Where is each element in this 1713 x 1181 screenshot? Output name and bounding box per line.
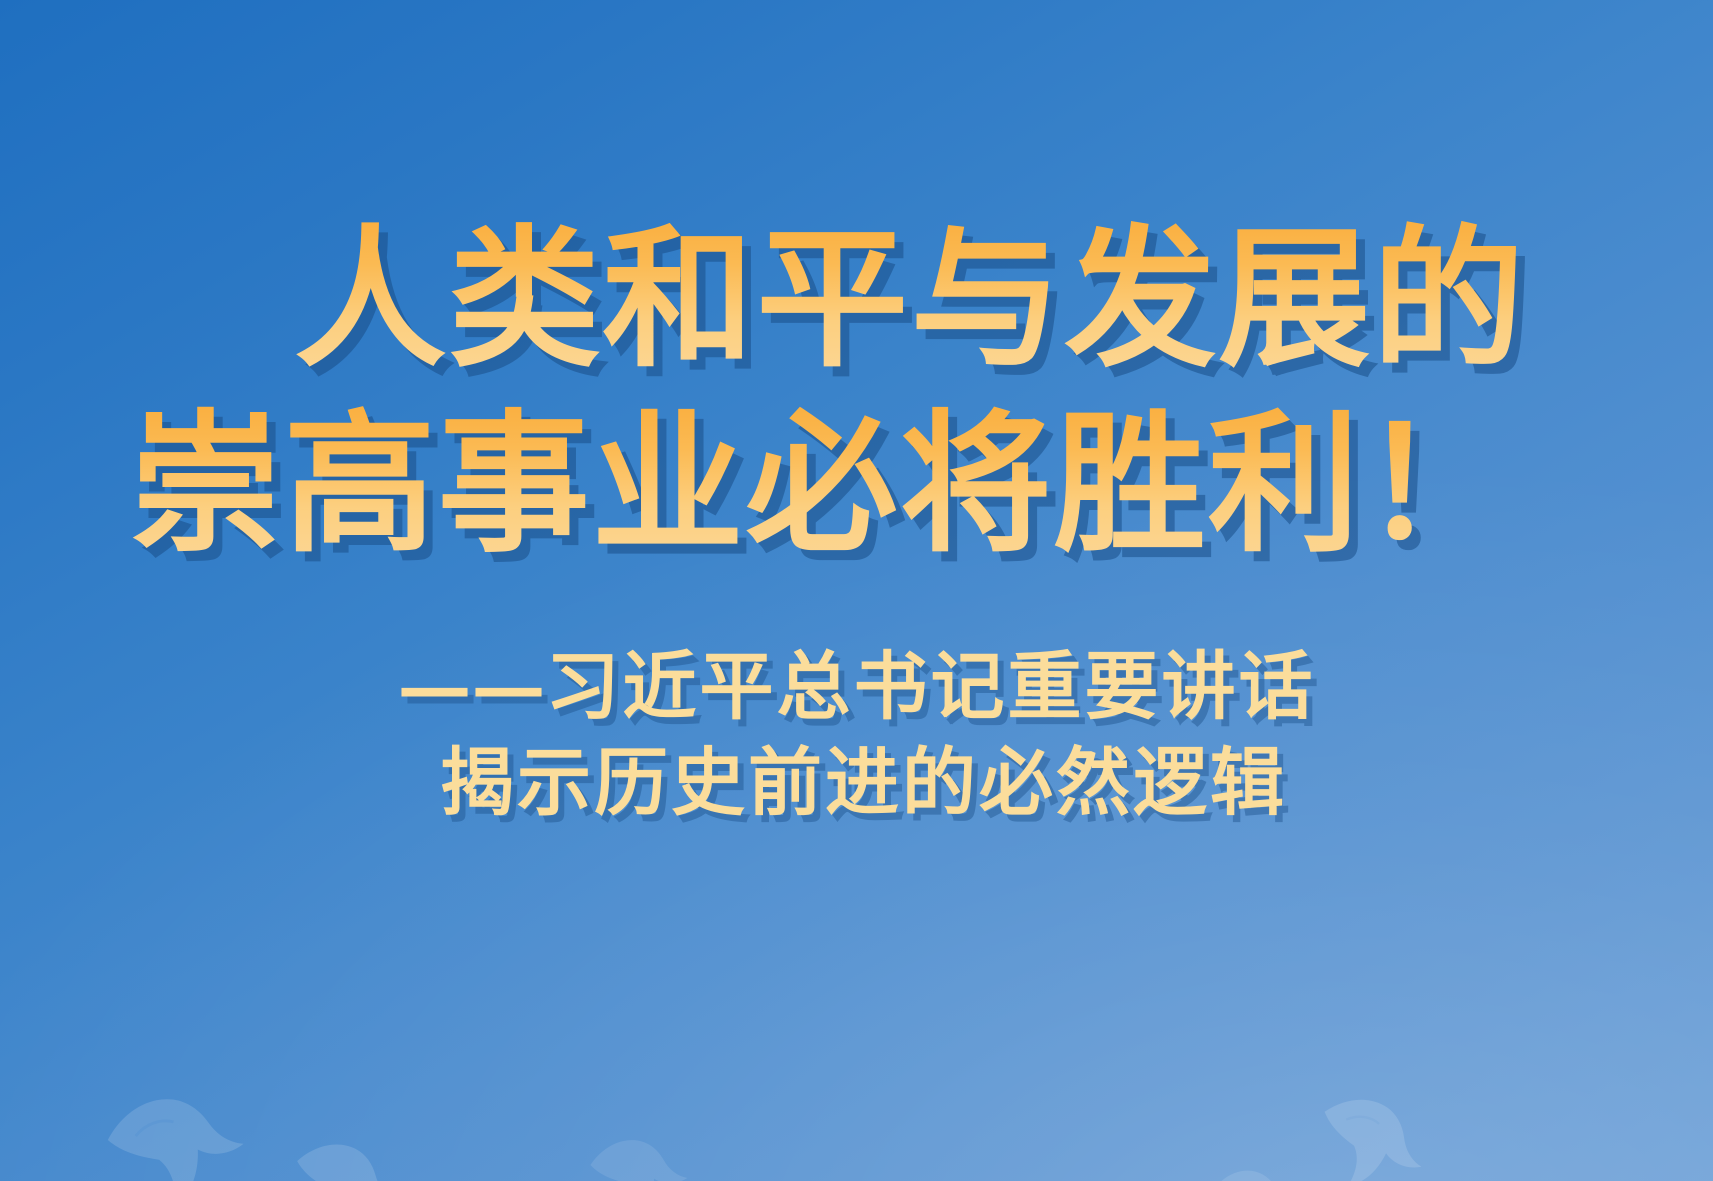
poster-content: “人类和平与发展的 崇高事业必将胜利！” ——习近平总书记重要讲话 揭示历史前进… <box>0 0 1713 1181</box>
close-quote-mark: ” <box>1518 389 1594 539</box>
subtitle-line-2: 揭示历史前进的必然逻辑 <box>398 735 1316 831</box>
subtitle-block: ——习近平总书记重要讲话 揭示历史前进的必然逻辑 <box>398 639 1316 831</box>
headline-line-2: 崇高事业必将胜利！” <box>0 395 1713 574</box>
headline-line-2-text: 崇高事业必将胜利！ <box>130 396 1516 573</box>
headline-line-1-text: 人类和平与发展的 <box>294 211 1526 388</box>
subtitle-line-1: ——习近平总书记重要讲话 <box>398 639 1316 735</box>
em-dash: —— <box>398 644 546 730</box>
headline-line-1: “人类和平与发展的 <box>0 210 1713 389</box>
subtitle-line-1-text: 习近平总书记重要讲话 <box>546 644 1316 730</box>
poster-canvas: “人类和平与发展的 崇高事业必将胜利！” ——习近平总书记重要讲话 揭示历史前进… <box>0 0 1713 1181</box>
headline-block: “人类和平与发展的 崇高事业必将胜利！” <box>0 210 1713 575</box>
open-quote-mark: “ <box>213 204 289 354</box>
